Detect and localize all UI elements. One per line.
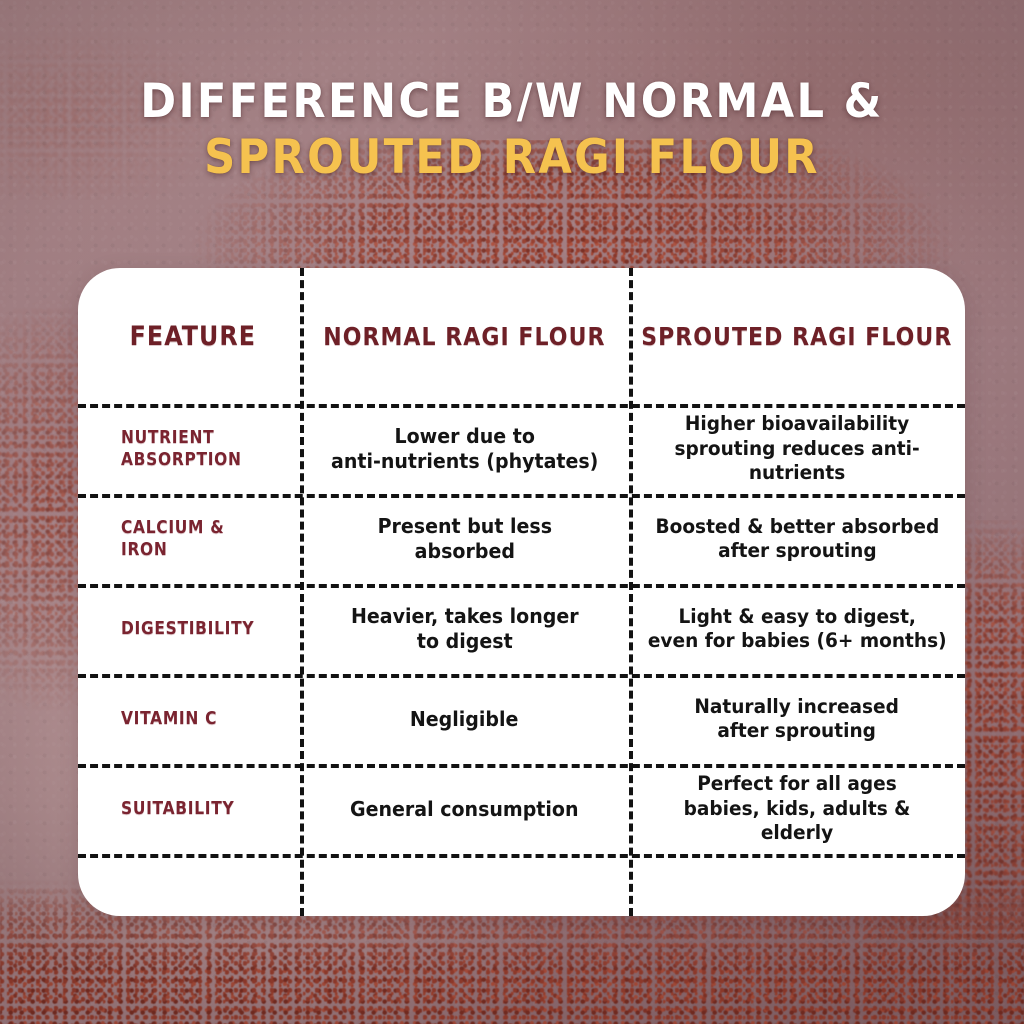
table-row: SUITABILITY General consumption Perfect … <box>78 764 965 854</box>
cell-normal: Present but lessabsorbed <box>300 514 629 564</box>
header-label-normal: NORMAL RAGI FLOUR <box>323 322 605 351</box>
title-line-2: SPROUTED RAGI FLOUR <box>41 134 983 183</box>
comparison-card: FEATURE NORMAL RAGI FLOUR SPROUTED RAGI … <box>78 268 965 916</box>
row-divider-6 <box>78 854 965 858</box>
normal-value: Negligible <box>410 707 519 732</box>
sprouted-value: Light & easy to digest,even for babies (… <box>648 605 947 654</box>
header-cell-normal: NORMAL RAGI FLOUR <box>300 322 629 351</box>
row-divider-5 <box>78 764 965 768</box>
feature-label: NUTRIENTABSORPTION <box>121 427 242 471</box>
sprouted-value: Higher bioavailabilitysprouting reduces … <box>674 412 919 485</box>
row-divider-1 <box>78 404 965 408</box>
normal-value: Heavier, takes longerto digest <box>351 604 579 654</box>
cell-sprouted: Boosted & better absorbedafter sprouting <box>629 515 965 564</box>
header-cell-sprouted: SPROUTED RAGI FLOUR <box>629 322 965 351</box>
comparison-table: FEATURE NORMAL RAGI FLOUR SPROUTED RAGI … <box>78 268 965 916</box>
cell-feature: SUITABILITY <box>78 798 300 820</box>
normal-value: Lower due toanti-nutrients (phytates) <box>331 424 598 474</box>
row-divider-3 <box>78 584 965 588</box>
cell-feature: NUTRIENTABSORPTION <box>78 427 300 471</box>
table-row: VITAMIN C Negligible Naturally increased… <box>78 674 965 764</box>
feature-label: SUITABILITY <box>121 798 234 820</box>
header-label-sprouted: SPROUTED RAGI FLOUR <box>641 322 952 351</box>
cell-feature: VITAMIN C <box>78 708 300 730</box>
cell-sprouted: Light & easy to digest,even for babies (… <box>629 605 965 654</box>
cell-sprouted: Perfect for all agesbabies, kids, adults… <box>629 772 965 845</box>
cell-sprouted: Naturally increasedafter sprouting <box>629 695 965 744</box>
sprouted-value: Naturally increasedafter sprouting <box>695 695 899 744</box>
column-divider-2 <box>629 268 633 916</box>
cell-normal: General consumption <box>300 797 629 822</box>
column-divider-1 <box>300 268 304 916</box>
feature-label: DIGESTIBILITY <box>121 618 254 640</box>
normal-value: Present but lessabsorbed <box>377 514 551 564</box>
feature-label: VITAMIN C <box>121 708 217 730</box>
table-row: NUTRIENTABSORPTION Lower due toanti-nutr… <box>78 404 965 494</box>
table-row: DIGESTIBILITY Heavier, takes longerto di… <box>78 584 965 674</box>
cell-feature: CALCIUM &IRON <box>78 517 300 561</box>
feature-label: CALCIUM &IRON <box>121 517 224 561</box>
title-line-1: DIFFERENCE B/W NORMAL & <box>41 78 983 127</box>
infographic-title: DIFFERENCE B/W NORMAL & SPROUTED RAGI FL… <box>0 78 1024 183</box>
cell-feature: DIGESTIBILITY <box>78 618 300 640</box>
header-cell-feature: FEATURE <box>78 321 300 352</box>
row-divider-2 <box>78 494 965 498</box>
table-empty-row <box>78 854 965 914</box>
cell-normal: Heavier, takes longerto digest <box>300 604 629 654</box>
normal-value: General consumption <box>350 797 578 822</box>
cell-sprouted: Higher bioavailabilitysprouting reduces … <box>629 412 965 485</box>
sprouted-value: Boosted & better absorbedafter sprouting <box>655 515 939 564</box>
sprouted-value: Perfect for all agesbabies, kids, adults… <box>647 772 947 845</box>
table-row: CALCIUM &IRON Present but lessabsorbed B… <box>78 494 965 584</box>
cell-normal: Lower due toanti-nutrients (phytates) <box>300 424 629 474</box>
header-label-feature: FEATURE <box>130 321 256 352</box>
table-header-row: FEATURE NORMAL RAGI FLOUR SPROUTED RAGI … <box>78 268 965 404</box>
row-divider-4 <box>78 674 965 678</box>
cell-normal: Negligible <box>300 707 629 732</box>
